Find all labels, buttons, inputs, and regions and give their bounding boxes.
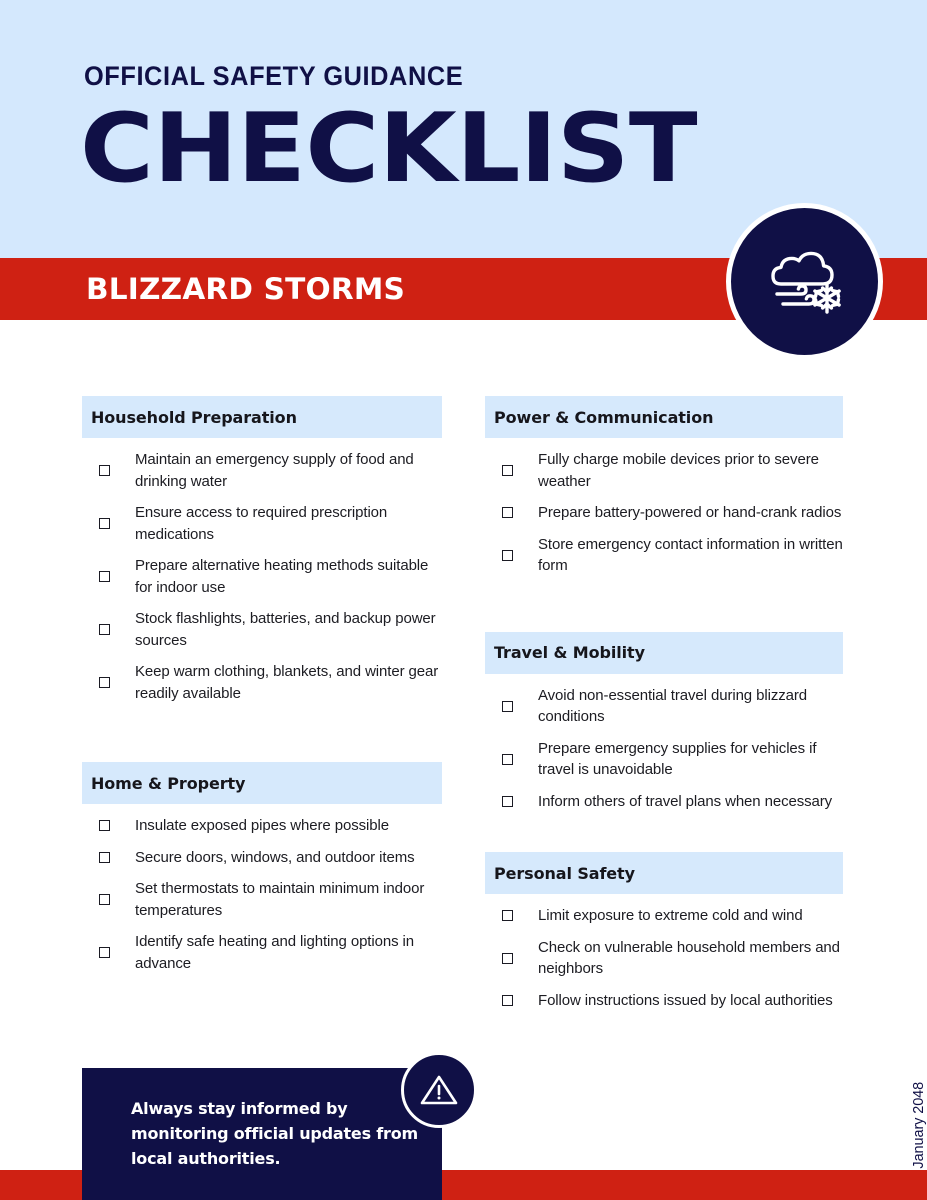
checklist-item-label: Prepare battery-powered or hand-crank ra… — [538, 502, 841, 524]
checklist-item[interactable]: Ensure access to required prescription m… — [82, 502, 442, 545]
checklist-item-label: Identify safe heating and lighting optio… — [135, 931, 442, 974]
checklist-item-label: Limit exposure to extreme cold and wind — [538, 905, 803, 927]
checkbox-icon[interactable] — [99, 947, 110, 958]
section-power-communication: Power & Communication Fully charge mobil… — [485, 396, 843, 577]
checkbox-icon[interactable] — [502, 550, 513, 561]
section-title: Power & Communication — [494, 408, 713, 427]
section-header-bar: Power & Communication — [485, 396, 843, 438]
checkbox-icon[interactable] — [99, 820, 110, 831]
right-column: Power & Communication Fully charge mobil… — [485, 396, 843, 1021]
callout-box: Always stay informed by monitoring offic… — [82, 1068, 442, 1200]
checklist-item[interactable]: Check on vulnerable household members an… — [485, 937, 843, 980]
section-title: Personal Safety — [494, 864, 635, 883]
section-title: Household Preparation — [91, 408, 297, 427]
checklist-item-label: Store emergency contact information in w… — [538, 534, 843, 577]
checkbox-icon[interactable] — [99, 571, 110, 582]
section-header-bar: Personal Safety — [485, 852, 843, 894]
section-title: Travel & Mobility — [494, 643, 645, 662]
checklist-item-label: Avoid non-essential travel during blizza… — [538, 685, 843, 728]
checklist-item[interactable]: Secure doors, windows, and outdoor items — [82, 847, 442, 869]
checkbox-icon[interactable] — [502, 796, 513, 807]
checkbox-icon[interactable] — [502, 507, 513, 518]
checkbox-icon[interactable] — [99, 465, 110, 476]
checklist-item-label: Prepare alternative heating methods suit… — [135, 555, 442, 598]
checkbox-icon[interactable] — [502, 465, 513, 476]
checkbox-icon[interactable] — [502, 953, 513, 964]
checklist-item[interactable]: Identify safe heating and lighting optio… — [82, 931, 442, 974]
section-header-bar: Home & Property — [82, 762, 442, 804]
checklist-item-label: Secure doors, windows, and outdoor items — [135, 847, 414, 869]
eyebrow-text: OFFICIAL SAFETY GUIDANCE — [84, 61, 463, 92]
checklist-item[interactable]: Inform others of travel plans when neces… — [485, 791, 843, 813]
checklist-item-label: Set thermostats to maintain minimum indo… — [135, 878, 442, 921]
checklist-item[interactable]: Store emergency contact information in w… — [485, 534, 843, 577]
checklist-item[interactable]: Prepare battery-powered or hand-crank ra… — [485, 502, 843, 524]
checklist-item-label: Check on vulnerable household members an… — [538, 937, 843, 980]
section-items: Avoid non-essential travel during blizza… — [485, 674, 843, 813]
checklist-item-label: Prepare emergency supplies for vehicles … — [538, 738, 843, 781]
checkbox-icon[interactable] — [502, 754, 513, 765]
section-items: Limit exposure to extreme cold and wind … — [485, 894, 843, 1011]
checklist-item[interactable]: Keep warm clothing, blankets, and winter… — [82, 661, 442, 704]
checklist-item-label: Keep warm clothing, blankets, and winter… — [135, 661, 442, 704]
subtitle-text: BLIZZARD STORMS — [86, 272, 405, 306]
checklist-item[interactable]: Limit exposure to extreme cold and wind — [485, 905, 843, 927]
checklist-item[interactable]: Follow instructions issued by local auth… — [485, 990, 843, 1012]
section-items: Insulate exposed pipes where possible Se… — [82, 804, 442, 974]
checklist-item-label: Maintain an emergency supply of food and… — [135, 449, 442, 492]
column-spacer — [485, 822, 843, 852]
checklist-item-label: Ensure access to required prescription m… — [135, 502, 442, 545]
section-personal-safety: Personal Safety Limit exposure to extrem… — [485, 852, 843, 1011]
column-spacer — [485, 587, 843, 632]
cloud-wind-snowflake-icon — [726, 203, 883, 360]
checklist-poster: OFFICIAL SAFETY GUIDANCE CHECKLIST BLIZZ… — [0, 0, 927, 1200]
checklist-item[interactable]: Stock flashlights, batteries, and backup… — [82, 608, 442, 651]
callout-text: Always stay informed by monitoring offic… — [131, 1096, 421, 1171]
section-header-bar: Travel & Mobility — [485, 632, 843, 674]
checkbox-icon[interactable] — [502, 995, 513, 1006]
checkbox-icon[interactable] — [99, 894, 110, 905]
checklist-item[interactable]: Maintain an emergency supply of food and… — [82, 449, 442, 492]
section-items: Maintain an emergency supply of food and… — [82, 438, 442, 704]
checklist-item[interactable]: Insulate exposed pipes where possible — [82, 815, 442, 837]
warning-triangle-icon — [401, 1052, 477, 1128]
checkbox-icon[interactable] — [99, 852, 110, 863]
page-title: CHECKLIST — [80, 100, 697, 198]
checkbox-icon[interactable] — [99, 624, 110, 635]
checklist-item[interactable]: Prepare alternative heating methods suit… — [82, 555, 442, 598]
checklist-item-label: Stock flashlights, batteries, and backup… — [135, 608, 442, 651]
checkbox-icon[interactable] — [99, 677, 110, 688]
left-column: Household Preparation Maintain an emerge… — [82, 396, 442, 984]
section-header-bar: Household Preparation — [82, 396, 442, 438]
checklist-item-label: Insulate exposed pipes where possible — [135, 815, 389, 837]
checkbox-icon[interactable] — [502, 701, 513, 712]
checklist-item[interactable]: Prepare emergency supplies for vehicles … — [485, 738, 843, 781]
checklist-item[interactable]: Avoid non-essential travel during blizza… — [485, 685, 843, 728]
section-household-preparation: Household Preparation Maintain an emerge… — [82, 396, 442, 704]
checklist-item[interactable]: Fully charge mobile devices prior to sev… — [485, 449, 843, 492]
checklist-item-label: Fully charge mobile devices prior to sev… — [538, 449, 843, 492]
checkbox-icon[interactable] — [502, 910, 513, 921]
checklist-item-label: Inform others of travel plans when neces… — [538, 791, 832, 813]
section-items: Fully charge mobile devices prior to sev… — [485, 438, 843, 577]
checkbox-icon[interactable] — [99, 518, 110, 529]
section-title: Home & Property — [91, 774, 245, 793]
column-spacer — [82, 714, 442, 762]
section-home-property: Home & Property Insulate exposed pipes w… — [82, 762, 442, 974]
checklist-item[interactable]: Set thermostats to maintain minimum indo… — [82, 878, 442, 921]
section-travel-mobility: Travel & Mobility Avoid non-essential tr… — [485, 632, 843, 813]
checklist-item-label: Follow instructions issued by local auth… — [538, 990, 833, 1012]
